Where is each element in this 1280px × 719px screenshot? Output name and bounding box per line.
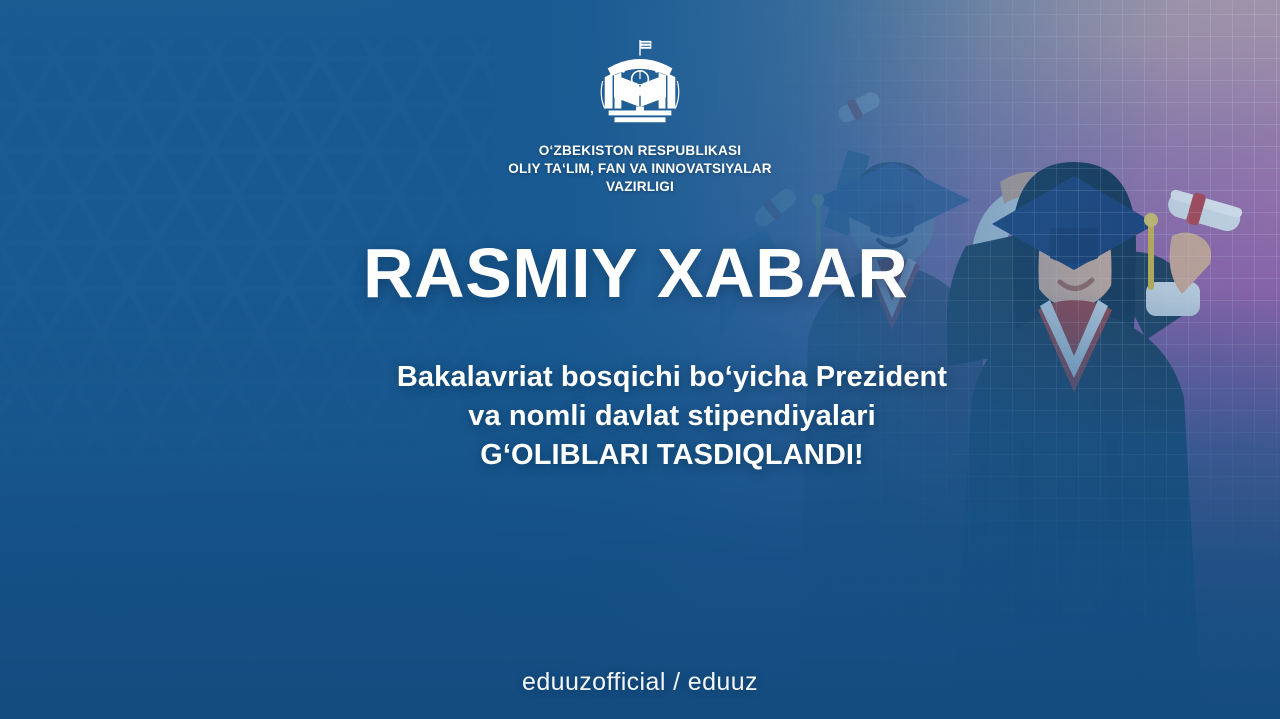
subheadline: Bakalavriat bosqichi bo‘yicha Prezident …: [0, 358, 1280, 475]
ministry-line-2: OLIY TA‘LIM, FAN VA INNOVATSIYALAR: [508, 160, 772, 178]
poster-canvas: O‘ZBEKISTON RESPUBLIKASI OLIY TA‘LIM, FA…: [0, 0, 1280, 719]
ministry-name: O‘ZBEKISTON RESPUBLIKASI OLIY TA‘LIM, FA…: [508, 142, 772, 196]
subheadline-line-1: Bakalavriat bosqichi bo‘yicha Prezident: [0, 358, 1280, 397]
uzbekistan-ministry-emblem-icon: [591, 36, 689, 134]
subheadline-line-3: G‘OLIBLARI TASDIQLANDI!: [0, 436, 1280, 475]
ministry-line-1: O‘ZBEKISTON RESPUBLIKASI: [508, 142, 772, 160]
subheadline-line-2: va nomli davlat stipendiyalari: [0, 397, 1280, 436]
poster-content: O‘ZBEKISTON RESPUBLIKASI OLIY TA‘LIM, FA…: [0, 0, 1280, 719]
headline: RASMIY XABAR: [363, 238, 908, 308]
ministry-line-3: VAZIRLIGI: [508, 178, 772, 196]
social-handles: eduuzofficial / eduuz: [0, 668, 1280, 697]
emblem-block: O‘ZBEKISTON RESPUBLIKASI OLIY TA‘LIM, FA…: [0, 36, 1280, 196]
